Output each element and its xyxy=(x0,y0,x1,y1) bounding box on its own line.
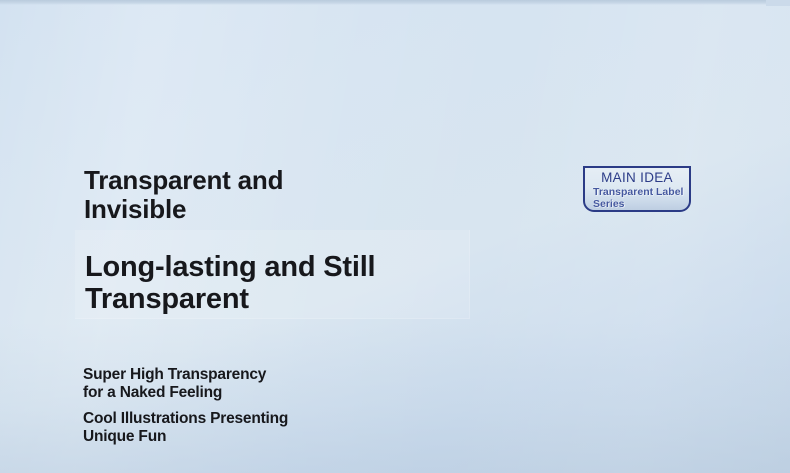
top-edge-band-right xyxy=(766,0,790,6)
main-idea-badge-title: MAIN IDEA xyxy=(601,170,673,186)
main-idea-badge: MAIN IDEA Transparent Label Series xyxy=(583,166,691,212)
feature-text-cool-illustrations: Cool Illustrations Presenting Unique Fun xyxy=(83,410,288,446)
heading-primary: Transparent and Invisible xyxy=(84,166,283,224)
feature-text-super-high-transparency: Super High Transparency for a Naked Feel… xyxy=(83,366,266,402)
slide-canvas: Transparent and Invisible Long-lasting a… xyxy=(0,0,790,473)
main-idea-badge-subtitle: Transparent Label Series xyxy=(585,187,689,210)
top-edge-band xyxy=(0,0,766,5)
heading-secondary: Long-lasting and Still Transparent xyxy=(85,251,375,315)
